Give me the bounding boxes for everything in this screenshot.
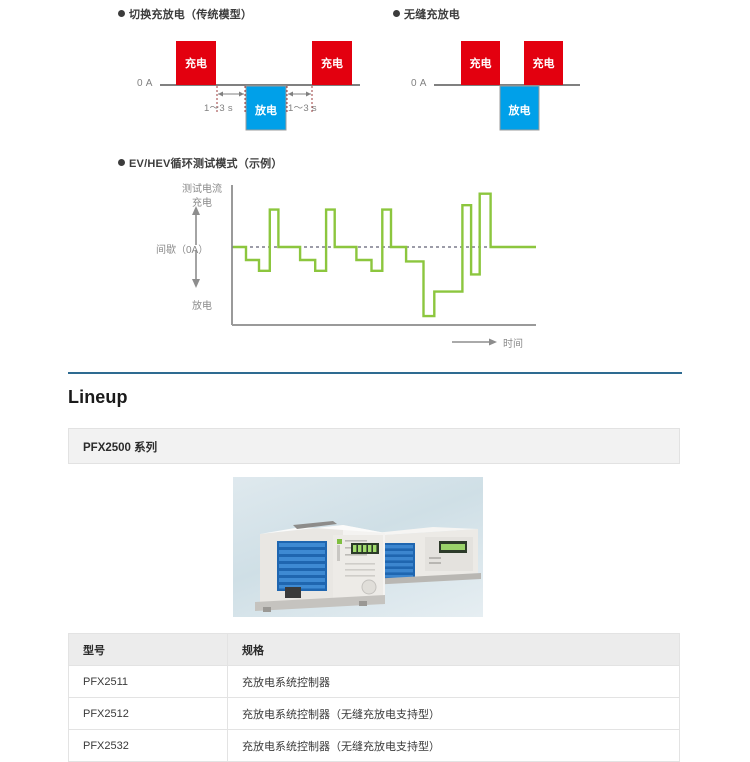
series-header-bar: PFX2500 系列 — [68, 428, 680, 464]
discharge-arrow-head — [192, 279, 200, 288]
chart-time-label: 时间 — [503, 335, 523, 350]
time-arrow-head — [489, 339, 497, 346]
seamless-zero-label: 0 A — [411, 78, 427, 89]
gap-arrow-left-head-a — [218, 92, 223, 97]
gap-label-left: 1～3 s — [204, 100, 233, 114]
gap-arrow-right-head-b — [306, 92, 311, 97]
chart-axis-top-label-1: 测试电流 — [170, 180, 234, 195]
switching-discharge-label: 放电 — [246, 102, 286, 118]
product-photo — [233, 477, 483, 617]
cell-spec: 充放电系统控制器（无缝充放电支持型） — [228, 730, 680, 762]
cycle-test-chart: EV/HEV循环测试模式（示例） 测试电流 充电 间歇（0A） 放电 时间 — [0, 150, 750, 360]
table-row[interactable]: PFX2511 充放电系统控制器 — [69, 666, 680, 698]
gap-arrow-left-head-b — [239, 92, 244, 97]
cell-spec: 充放电系统控制器 — [228, 666, 680, 698]
switching-charge-label-1: 充电 — [176, 55, 216, 71]
chart-axis-top-label-2: 充电 — [170, 194, 234, 209]
table-row[interactable]: PFX2512 充放电系统控制器（无缝充放电支持型） — [69, 698, 680, 730]
cell-model: PFX2532 — [69, 730, 228, 762]
section-divider — [68, 372, 682, 374]
cell-model: PFX2511 — [69, 666, 228, 698]
switching-zero-label: 0 A — [137, 78, 153, 89]
table-body: PFX2511 充放电系统控制器 PFX2512 充放电系统控制器（无缝充放电支… — [69, 666, 680, 762]
seamless-charge-label-2: 充电 — [524, 55, 563, 71]
cell-spec: 充放电系统控制器（无缝充放电支持型） — [228, 698, 680, 730]
gap-label-right: 1～3 s — [288, 100, 317, 114]
lineup-heading: Lineup — [68, 387, 128, 408]
product-photo-svg — [233, 477, 483, 617]
gap-arrow-right-head-a — [288, 92, 293, 97]
table-header-model: 型号 — [69, 634, 228, 666]
seamless-discharge-label: 放电 — [500, 102, 539, 118]
spec-table: 型号 规格 PFX2511 充放电系统控制器 PFX2512 充放电系统控制器（… — [68, 633, 680, 762]
seamless-charge-label-1: 充电 — [461, 55, 500, 71]
table-header-spec: 规格 — [228, 634, 680, 666]
table-row[interactable]: PFX2532 充放电系统控制器（无缝充放电支持型） — [69, 730, 680, 762]
chart-zero-label: 间歇（0A） — [156, 241, 208, 256]
series-label: PFX2500 系列 — [83, 439, 157, 455]
cycle-trace-line — [233, 194, 536, 316]
chart-axis-bottom-label: 放电 — [170, 297, 234, 312]
front-unit — [255, 521, 385, 612]
switching-charge-label-2: 充电 — [312, 55, 352, 71]
cycle-chart-svg — [0, 150, 750, 360]
cell-model: PFX2512 — [69, 698, 228, 730]
table-header-row: 型号 规格 — [69, 634, 680, 666]
charge-discharge-diagrams: 切换充放电（传统模型） 无缝充放电 — [0, 0, 750, 150]
diagram-svg-layer — [0, 0, 750, 150]
